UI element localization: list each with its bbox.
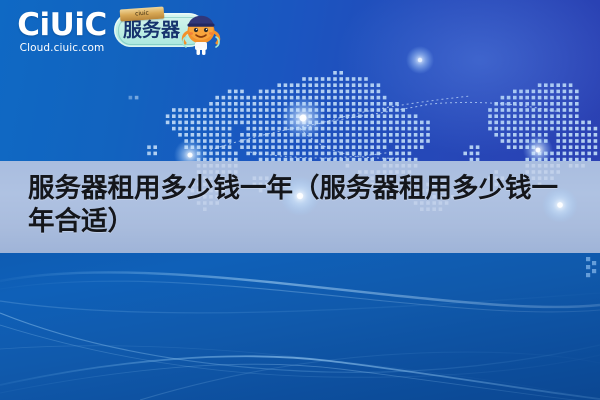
badge-label: 服务器 [123, 19, 185, 41]
logo-wordmark: CiUiC [14, 9, 110, 41]
wave-curves [0, 253, 600, 400]
bottom-background [0, 253, 600, 400]
brand-logo[interactable]: CiUiC Cloud.ciuic.com [14, 9, 110, 55]
logo-domain: Cloud.ciuic.com [14, 42, 110, 55]
page-title: 服务器租用多少钱一年（服务器租用多少钱一年合适） [28, 172, 573, 238]
mascot-icon [178, 4, 224, 56]
promo-banner: CiUiC Cloud.ciuic.com 服务器 ciuic 服务器租用多少钱… [0, 0, 600, 400]
